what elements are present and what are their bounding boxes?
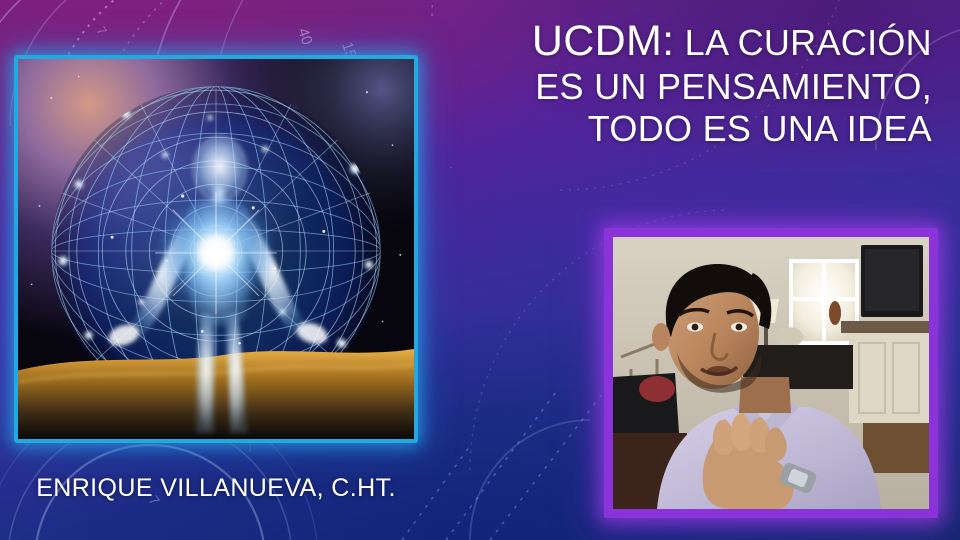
figurine — [829, 301, 841, 325]
decorative-streaks — [402, 376, 616, 540]
presenter-caption: ENRIQUE VILLANUEVA, C.HT. — [14, 474, 418, 503]
cushion — [639, 376, 675, 402]
title-lead-word: UCDM: — [532, 17, 674, 65]
slide-title: UCDM: LA CURACIÓN ES UN PENSAMIENTO, TOD… — [394, 16, 932, 151]
core-rays — [155, 192, 277, 314]
dial-number-7-top: 7 — [93, 24, 110, 38]
energy-body-illustration — [18, 59, 414, 439]
fireplace — [849, 333, 929, 423]
hearth — [863, 423, 929, 473]
title-line-3: TODO ES UNA IDEA — [394, 108, 932, 150]
energy-body-image[interactable] — [14, 55, 418, 443]
dial-number-40: 40 — [294, 26, 315, 47]
presenter-video-still — [613, 237, 929, 509]
presentation-slide: 40 150 7 7 — [0, 0, 960, 540]
plant — [775, 327, 803, 347]
title-line-2: ES UN PENSAMIENTO, — [394, 66, 932, 108]
title-line-1-rest: LA CURACIÓN — [674, 22, 932, 63]
mantel-shelf — [841, 321, 929, 333]
golden-terrain — [18, 349, 414, 439]
title-line-1: UCDM: LA CURACIÓN — [394, 16, 932, 66]
presenter-webcam-video[interactable] — [604, 228, 938, 518]
